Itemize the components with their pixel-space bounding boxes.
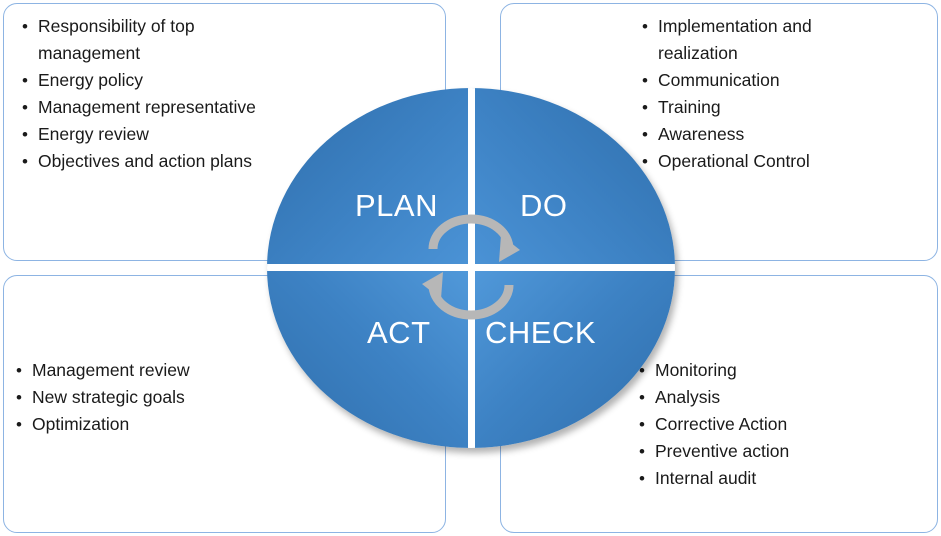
list-item: Internal audit [637,465,937,492]
list-item: Training [640,94,940,121]
list-item: Monitoring [637,357,937,384]
circular-arrows-icon [419,213,523,321]
check-bullet-list: Monitoring Analysis Corrective Action Pr… [637,357,937,492]
pdca-circle: PLAN DO ACT CHECK [267,88,675,448]
pdca-diagram: Responsibility of top management Energy … [0,0,941,536]
list-item: Operational Control [640,148,940,175]
list-item: Corrective Action [637,411,937,438]
list-item: Analysis [637,384,937,411]
list-item: Communication [640,67,940,94]
list-item: Awareness [640,121,940,148]
list-item: Responsibility of top management [20,13,320,67]
list-item: Preventive action [637,438,937,465]
do-bullet-list: Implementation and realization Communica… [640,13,940,175]
quadrant-label-do: DO [520,188,568,224]
list-item: Implementation and realization [640,13,940,67]
